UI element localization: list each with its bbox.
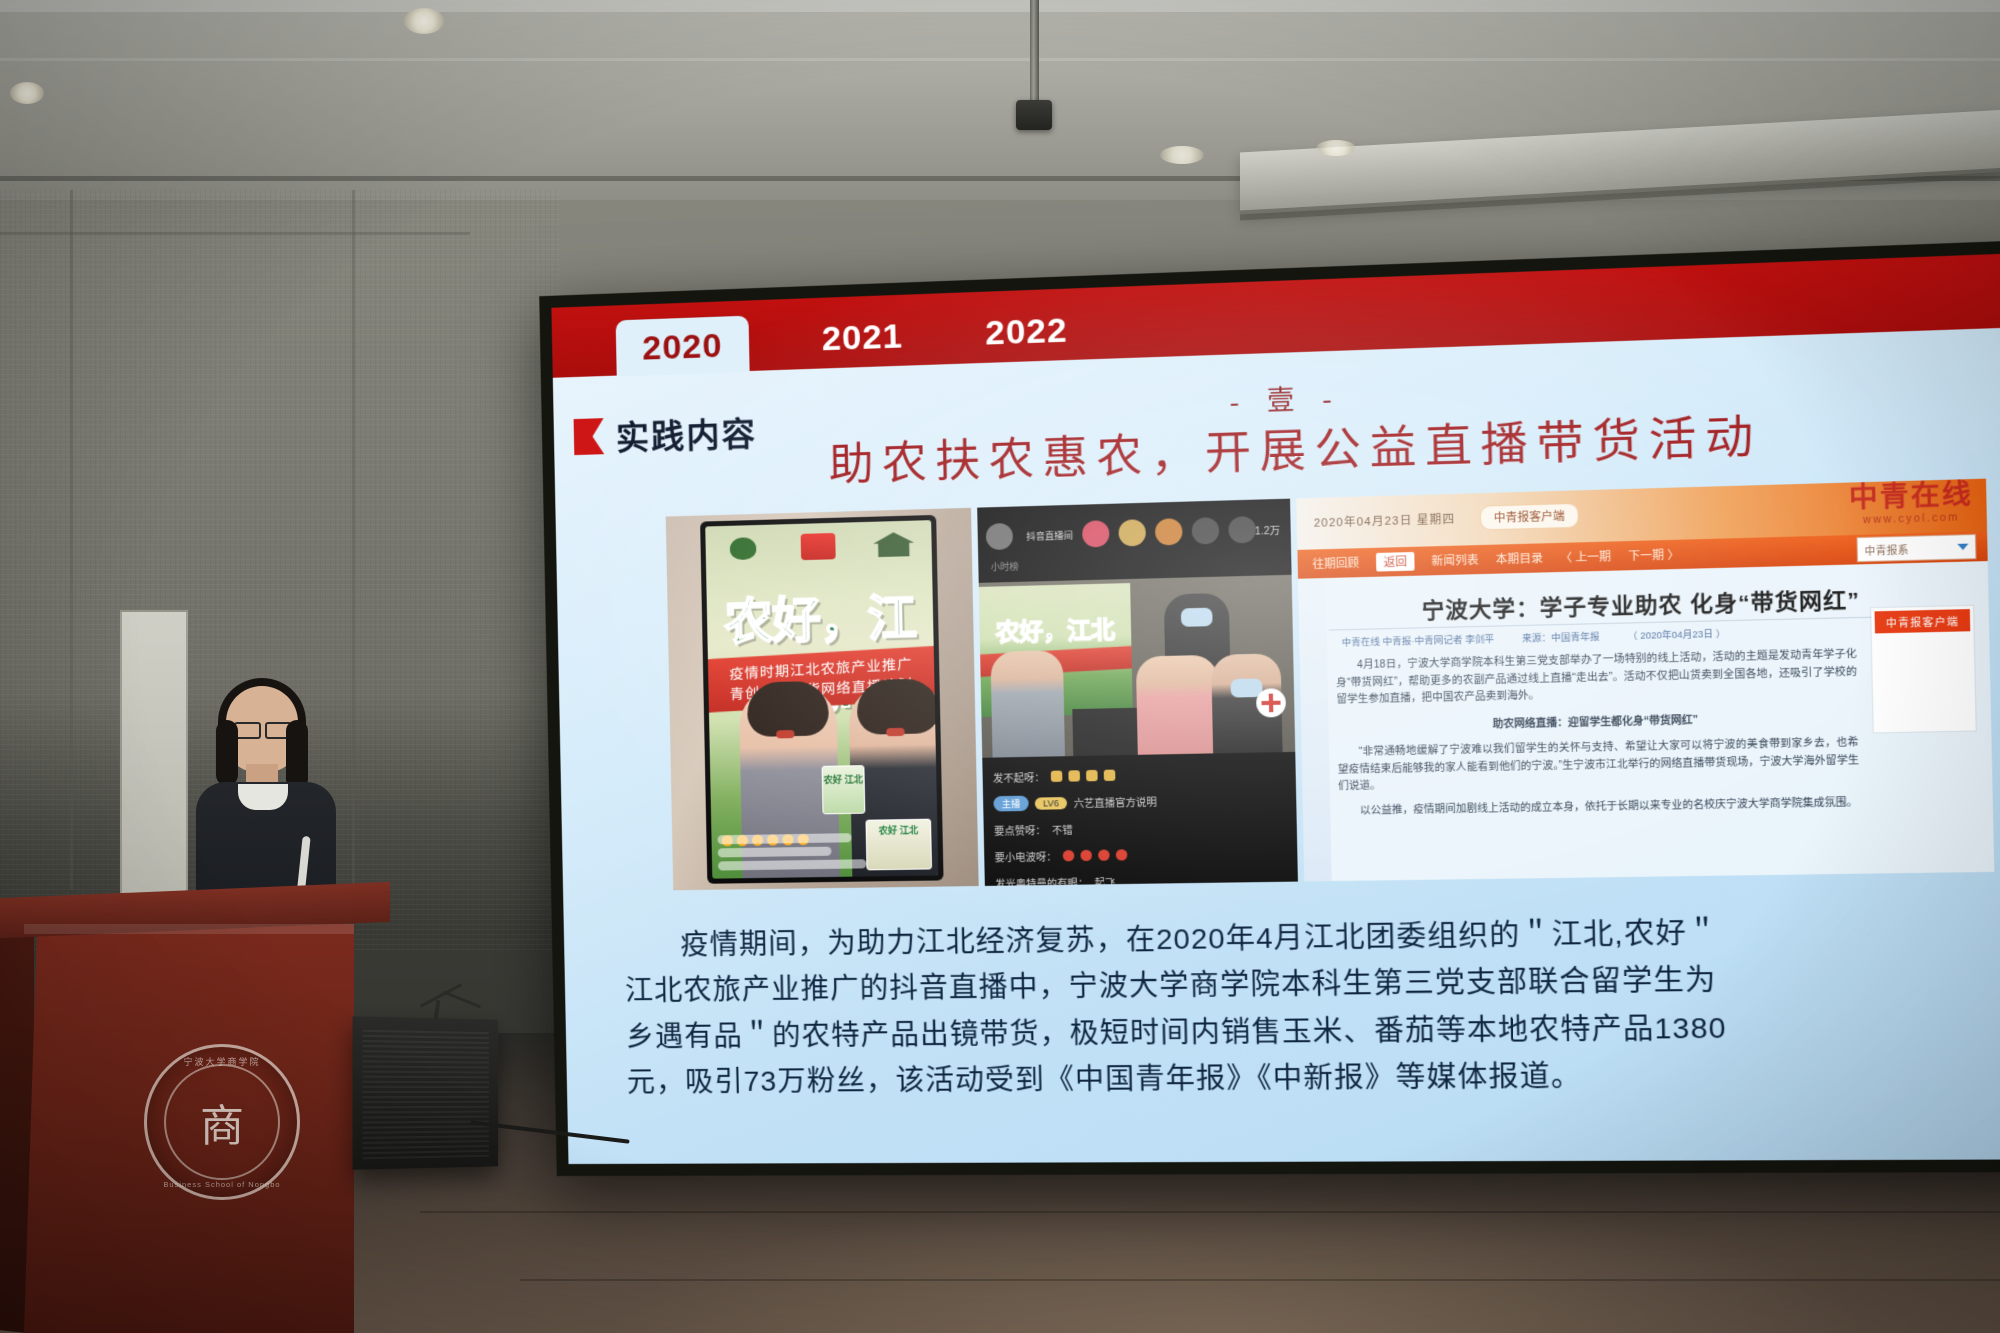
stage-banner-text: 农好，江北	[979, 610, 1131, 648]
news-meta-source: 来源：中国青年报	[1522, 629, 1600, 644]
floor-speaker	[353, 1016, 499, 1169]
product-card-primary-text: 农好 江北	[867, 820, 931, 837]
news-site-select-value: 中青报系	[1864, 540, 1909, 557]
photo-douyin-poster: 农好，江北! 疫情时期江北农旅产业推广 青创农铺带货网络直播计划	[666, 508, 979, 890]
livestream-subtext: 小时榜	[991, 559, 1019, 573]
presenter-hair-side-right	[286, 720, 308, 790]
comment-text: 起飞	[1094, 874, 1115, 886]
screenshot-root: 2020 2021 2022 实践内容 - 壹 - 助农扶农惠农，开展公益直播带…	[0, 0, 2000, 1333]
phone-device: 农好，江北! 疫情时期江北农旅产业推广 青创农铺带货网络直播计划	[700, 515, 943, 884]
heart-icon	[1098, 849, 1110, 860]
podium-top-highlight	[24, 924, 354, 934]
heart-icon	[1080, 850, 1092, 861]
news-site-url: www.cyol.com	[1849, 512, 1973, 527]
host-hair	[747, 681, 829, 737]
photo-row: 农好，江北! 疫情时期江北农旅产业推广 青创农铺带货网络直播计划	[666, 479, 1995, 891]
slide-body-text: 疫情期间，为助力江北经济复苏，在2020年4月江北团委组织的＂江北,农好＂ 江北…	[624, 905, 2000, 1105]
comment-label: 要小电波呀：	[994, 848, 1056, 864]
body-line-4: 元，吸引73万粉丝，该活动受到《中国青年报》《中新报》等媒体报道。	[626, 1049, 2000, 1105]
person-host	[990, 650, 1065, 757]
news-meta-date: （ 2020年04月23日 ）	[1628, 626, 1726, 642]
school-emblem-character: 商	[200, 1090, 244, 1154]
livestream-avatar-row: 抖音直播间	[986, 516, 1256, 550]
comment-row: 要点赞呀： 不错	[994, 818, 1286, 838]
product-card-secondary-text: 农好 江北	[823, 766, 864, 786]
badge-level: LV6	[1035, 796, 1068, 809]
gift-icon	[1104, 770, 1116, 781]
news-qr-block: 中青报客户端	[1871, 606, 1976, 733]
viewer-count: 1.2万	[1255, 522, 1281, 538]
year-tab-2021[interactable]: 2021	[813, 319, 912, 369]
avatar	[1228, 516, 1256, 543]
school-emblem: 商 宁波大学商学院 Business School of Nongbo	[144, 1044, 300, 1200]
presentation-slide: 2020 2021 2022 实践内容 - 壹 - 助农扶农惠农，开展公益直播带…	[551, 252, 2000, 1164]
heart-icon	[1063, 850, 1075, 861]
news-body: 4月18日，宁波大学商学院本科生第三党支部举办了一场特别的线上活动，活动的主题是…	[1336, 646, 1860, 827]
product-card-secondary: 农好 江北	[822, 765, 866, 814]
news-site-logo: 中青在线 www.cyol.com	[1849, 481, 1974, 527]
gift-icon	[1068, 770, 1080, 781]
nav-item-next-issue[interactable]: 下一期 〉	[1628, 546, 1679, 564]
face-mask	[1181, 608, 1213, 627]
host-lips	[776, 730, 794, 738]
school-emblem-ring: 商	[164, 1064, 280, 1180]
news-meta-author: 中青在线 中青报·中青网记者 李剑平	[1342, 632, 1495, 649]
news-meta: 中青在线 中青报·中青网记者 李剑平 来源：中国青年报 （ 2020年04月23…	[1342, 621, 1945, 649]
gift-icon	[1051, 771, 1063, 782]
school-emblem-top-text: 宁波大学商学院	[147, 1055, 297, 1068]
downlight-icon-1	[10, 82, 44, 104]
logo-zhinong-live-plan	[871, 527, 917, 563]
ceiling-seam-upper	[0, 58, 2000, 61]
qr-code-icon	[1875, 634, 1972, 727]
projector-mount-rod	[1030, 0, 1039, 108]
floor-seam-2	[520, 1279, 2000, 1281]
avatar	[986, 523, 1013, 550]
comment-text: 六艺直播官方说明	[1073, 793, 1157, 810]
floor-seam-1	[420, 1211, 2000, 1213]
chat-line	[718, 833, 852, 844]
heart-icon	[1116, 849, 1128, 860]
nav-item-back[interactable]: 返回	[1376, 552, 1415, 572]
logo-communist-youth-league	[795, 529, 840, 565]
downlight-icon-3	[1160, 146, 1204, 164]
person-seated	[1136, 655, 1220, 755]
presenter-collar	[238, 784, 288, 810]
wall-joint-horizontal	[0, 232, 470, 235]
podium-front-panel: 商 宁波大学商学院 Business School of Nongbo	[24, 924, 354, 1333]
comment-label: 发不起呀：	[993, 769, 1045, 785]
avatar	[1192, 517, 1220, 544]
projection-screen: 2020 2021 2022 实践内容 - 壹 - 助农扶农惠农，开展公益直播带…	[539, 239, 2000, 1177]
chat-line	[718, 859, 866, 870]
qr-caption: 中青报客户端	[1875, 609, 1971, 633]
livestream-header: 抖音直播间 1.2万 小时榜	[977, 499, 1291, 583]
downlight-icon-2	[404, 8, 444, 34]
comment-row: 要小电波呀：	[994, 845, 1286, 865]
comment-label: 发光奥特曼的有眼：	[995, 874, 1089, 886]
comment-row: 主播 LV6 六艺直播官方说明	[993, 791, 1285, 811]
avatar	[1082, 520, 1110, 547]
school-emblem-bottom-text: Business School of Nongbo	[147, 1180, 297, 1189]
wall-joint-vertical-1	[70, 190, 73, 890]
host-lips	[886, 728, 905, 736]
badge-host: 主播	[993, 796, 1028, 812]
chevron-down-icon	[1957, 544, 1968, 551]
logo-qingchuangnongpu	[720, 531, 765, 566]
avatar	[1155, 518, 1183, 545]
news-masthead-chip[interactable]: 中青报客户端	[1480, 503, 1579, 531]
livestream-comments: 发不起呀： 主播 LV6 六艺直播官方说明 要点赞呀：	[982, 752, 1298, 886]
livestream-channel-name: 抖音直播间	[1026, 528, 1073, 543]
wall-joint-vertical-2	[352, 190, 355, 890]
nav-item-archive[interactable]: 往期回顾	[1312, 554, 1359, 572]
photo-news-article: 2020年04月23日 星期四 中青报客户端 中青在线 www.cyol.com…	[1296, 479, 1994, 882]
chat-line	[718, 847, 832, 858]
glasses-icon	[234, 722, 292, 735]
gift-icon	[1086, 770, 1098, 781]
nav-item-news-list[interactable]: 新闻列表	[1431, 551, 1478, 569]
news-paragraph: 4月18日，宁波大学商学院本科生第三党支部举办了一场特别的线上活动，活动的主题是…	[1336, 646, 1858, 709]
comment-row: 发不起呀：	[993, 764, 1285, 785]
screen-frame: 2020 2021 2022 实践内容 - 壹 - 助农扶农惠农，开展公益直播带…	[539, 239, 2000, 1177]
speaker-grill	[363, 1027, 489, 1160]
product-card-primary: 农好 江北	[865, 819, 932, 871]
projector-mount-box	[1016, 100, 1052, 130]
news-site-select[interactable]: 中青报系	[1856, 534, 1976, 562]
host-hair	[857, 678, 939, 734]
avatar	[1118, 519, 1146, 546]
comment-text: 不错	[1052, 821, 1073, 837]
poster-artwork: 农好，江北! 疫情时期江北农旅产业推广 青创农铺带货网络直播计划	[705, 520, 938, 879]
news-paragraph: 以公益推，疫情期间加剧线上活动的成立本身，依托于长期以来专业的名校庆宁波大学商学…	[1339, 794, 1860, 820]
news-subheading: 助农网络直播：迎留学生都化身“带货网红”	[1337, 709, 1858, 737]
presenter-hair-side-left	[216, 720, 238, 786]
downlight-icon-4	[1316, 140, 1356, 156]
ceiling-strip	[0, 0, 2000, 12]
news-date: 2020年04月23日 星期四	[1314, 510, 1456, 530]
year-tab-2020[interactable]: 2020	[616, 316, 750, 377]
news-site-name: 中青在线	[1849, 481, 1974, 512]
photo-livestream: 抖音直播间 1.2万 小时榜	[977, 499, 1298, 886]
nav-item-issue-index[interactable]: 本期目录	[1496, 550, 1544, 568]
year-tab-2022[interactable]: 2022	[977, 313, 1077, 363]
podium: 商 宁波大学商学院 Business School of Nongbo	[0, 890, 390, 1333]
poster-logo-row	[705, 526, 932, 567]
desk	[1072, 708, 1137, 756]
comment-label: 要点赞呀：	[994, 822, 1046, 838]
comment-row: 发光奥特曼的有眼： 起飞	[995, 871, 1287, 886]
livestream-video: 农好，江北	[979, 575, 1296, 758]
news-paragraph: “非常通畅地缓解了宁波难以我们留学生的关怀与支持、希望让大家可以将宁波的美食带到…	[1337, 735, 1859, 796]
nav-item-prev-issue[interactable]: 〈 上一期	[1560, 548, 1611, 566]
live-chat-overlay	[718, 833, 871, 871]
